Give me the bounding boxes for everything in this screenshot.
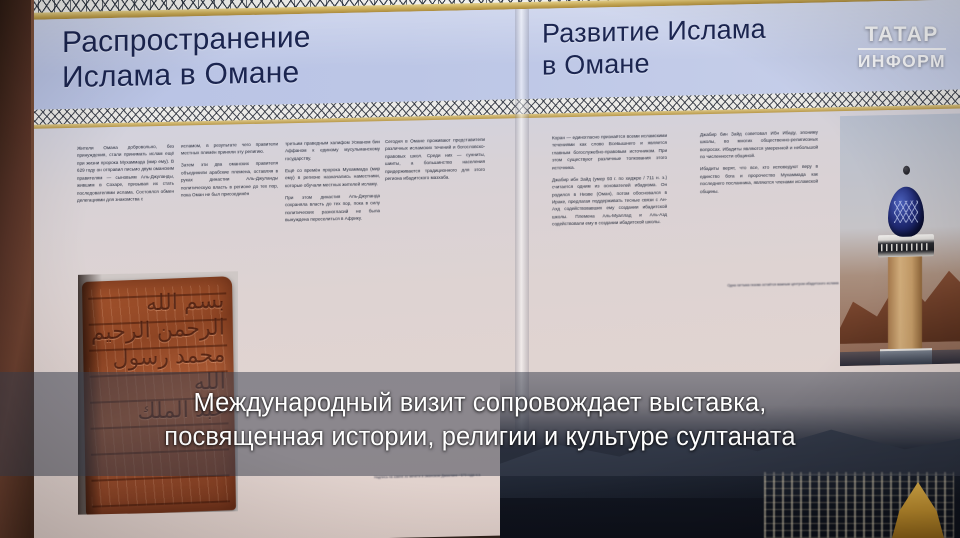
minaret-balcony: [878, 234, 934, 257]
minaret-shaft: [888, 252, 922, 357]
watermark-line-2: ИНФОРМ: [858, 53, 946, 71]
minaret-dome: [888, 186, 924, 237]
water-foreground: [840, 349, 960, 366]
right-poster-column-2: Джабир бин Зайд советовал Ибн Ибаду, эпо…: [700, 129, 818, 200]
minaret-photo-caption: Одна гаттьма гизова остаётся важным цент…: [724, 281, 842, 289]
right-poster-title: Развитие Ислама в Омане: [542, 11, 872, 81]
watermark-divider: [858, 48, 946, 50]
tatar-inform-watermark: ТАТАР ИНФОРМ: [858, 24, 946, 71]
watermark-line-1: ТАТАР: [858, 24, 946, 45]
left-poster-column-3: третьим праведным халифом Усманом бин Аф…: [285, 138, 380, 228]
left-poster-title: Распространение Ислама в Омане: [62, 16, 482, 95]
left-poster-column-4: Сегодня в Омане проживают представители …: [385, 136, 485, 187]
right-poster-column-1: Коран — единогласно признаётся всеми исл…: [552, 132, 667, 233]
subtitle-line-2: посвященная истории, религии и культуре …: [0, 420, 960, 454]
minaret-photo: [840, 113, 960, 366]
subtitle-line-1: Международный визит сопровождает выставк…: [194, 389, 767, 417]
left-poster-column-1: Жители Омана добровольно, без принуждени…: [77, 143, 174, 209]
video-frame: Распространение Ислама в Омане Развитие …: [0, 0, 960, 538]
subtitle-text: Международный визит сопровождает выставк…: [0, 386, 960, 454]
left-poster-column-2: исламом, в результате чего правители мес…: [181, 140, 278, 203]
